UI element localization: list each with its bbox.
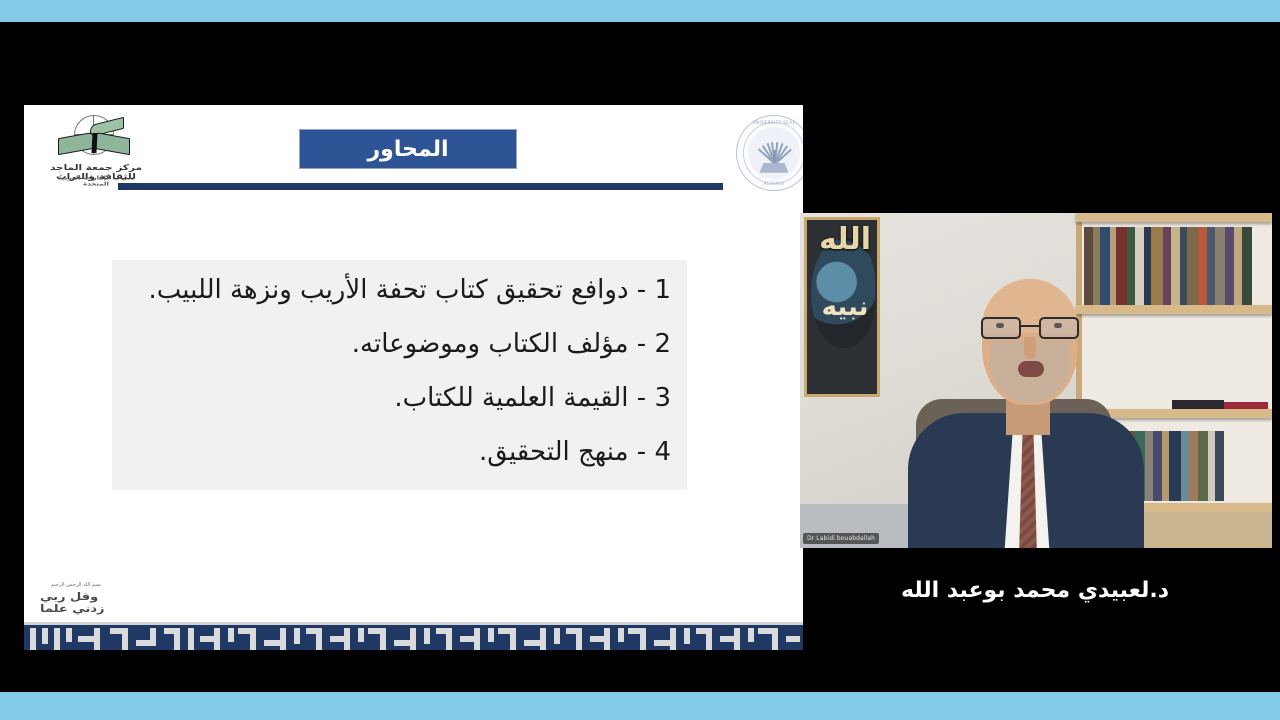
nose <box>1024 337 1036 359</box>
presentation-slide: مركز جمعة الماجد للثقافة والتراث دبي ــ … <box>24 105 803 650</box>
lens-left <box>981 317 1021 339</box>
book-globe-glyph <box>56 113 136 159</box>
title-underline-rule <box>118 183 723 190</box>
screen-root: مركز جمعة الماجد للثقافة والتراث دبي ــ … <box>0 0 1280 720</box>
book-spine <box>91 133 97 153</box>
watermark-line1: بسم الله الرحمن الرحيم <box>51 582 101 588</box>
eyeglasses-icon <box>980 317 1080 339</box>
art-calligraphy-bottom: نبيه <box>807 292 883 322</box>
slide-content-panel: 1 - دوافع تحقيق كتاب تحفة الأريب ونزهة ا… <box>112 260 687 490</box>
seal-field <box>748 127 800 179</box>
bottom-accent-bar <box>0 692 1280 720</box>
glasses-bridge <box>1021 325 1039 327</box>
seal-pedestal <box>759 163 788 173</box>
lens-right <box>1039 317 1079 339</box>
framed-calligraphy-art-icon: الله نبيه <box>804 217 880 397</box>
speaker-name-caption: د.لعبيدي محمد بوعبد الله <box>798 578 1272 603</box>
watermark-line2: وقل ربي زدني علما <box>40 591 112 615</box>
arabic-calligraphy-watermark-icon: بسم الله الرحمن الرحيم وقل ربي زدني علما <box>40 583 112 617</box>
seal-arc-text-top: UNIVERSITY SEAL <box>736 120 803 125</box>
participant-name-chip: Dr Labidi bouabdallah <box>803 533 879 544</box>
list-item: 2 - مؤلف الكتاب وموضوعاته. <box>128 330 671 358</box>
participant-name-label: Dr Labidi bouabdallah <box>807 535 875 542</box>
art-calligraphy-top: الله <box>807 226 883 254</box>
list-item: 4 - منهج التحقيق. <box>128 438 671 466</box>
slide-title: المحاور <box>367 137 448 162</box>
list-item: 1 - دوافع تحقيق كتاب تحفة الأريب ونزهة ا… <box>128 276 671 304</box>
seal-arc-text-bottom: ALGERIA <box>736 181 803 186</box>
slide-title-box: المحاور <box>299 129 517 169</box>
university-seal-tree-icon: UNIVERSITY SEAL ALGERIA <box>736 115 803 191</box>
top-accent-bar <box>0 0 1280 22</box>
mouth <box>1018 361 1044 377</box>
kufic-pattern-band-icon <box>24 622 803 650</box>
list-item: 3 - القيمة العلمية للكتاب. <box>128 384 671 412</box>
speaker-webcam-icon[interactable]: الله نبيه Dr Labidi bouabdallah <box>800 213 1272 548</box>
